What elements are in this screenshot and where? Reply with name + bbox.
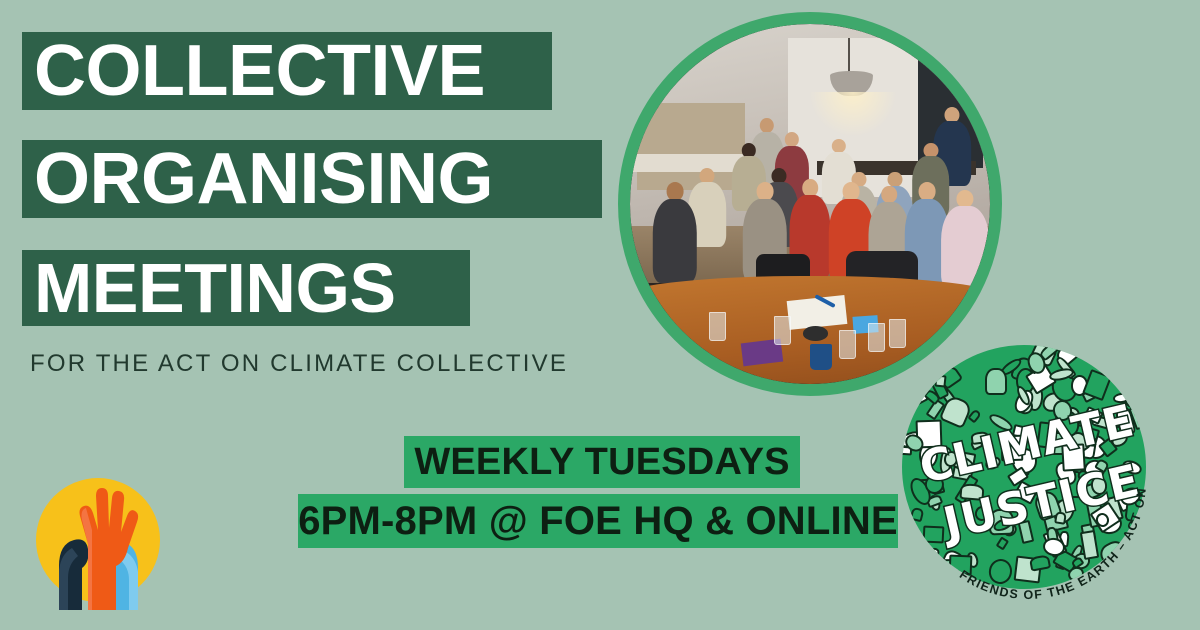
photo-glass: [889, 319, 906, 348]
badge-tagline-text: FRIENDS OF THE EARTH – ACT ON CLIMATE: [896, 334, 1149, 602]
photo-headphones: [803, 326, 828, 340]
photo-person: [652, 182, 699, 283]
photo-notebook: [787, 295, 847, 330]
badge-tagline: FRIENDS OF THE EARTH – ACT ON CLIMATE: [902, 345, 1168, 611]
raised-hands-logo: [28, 470, 168, 610]
photo-glass: [839, 330, 856, 359]
photo-lamp-glow: [810, 92, 896, 135]
photo-glass: [868, 323, 885, 352]
photo-glass: [709, 312, 726, 341]
climate-justice-badge: CLIMATE JUSTICE FRIENDS OF THE EARTH – A…: [902, 345, 1168, 611]
headline-line-organising: ORGANISING: [22, 140, 602, 218]
headline-line-collective: COLLECTIVE: [22, 32, 552, 110]
subtitle: FOR THE ACT ON CLIMATE COLLECTIVE: [30, 350, 568, 378]
photo-pen-pot: [810, 344, 832, 369]
poster-canvas: COLLECTIVE ORGANISING MEETINGS FOR THE A…: [0, 0, 1200, 630]
photo-glass: [774, 316, 791, 345]
group-photo-image: [630, 24, 990, 384]
headline-line-meetings: MEETINGS: [22, 250, 470, 326]
photo-person: [940, 190, 990, 291]
event-day-band: WEEKLY TUESDAYS: [404, 436, 800, 488]
group-photo-circle: [618, 12, 1002, 396]
event-time-location-band: 6PM-8PM @ FOE HQ & ONLINE: [298, 494, 898, 548]
